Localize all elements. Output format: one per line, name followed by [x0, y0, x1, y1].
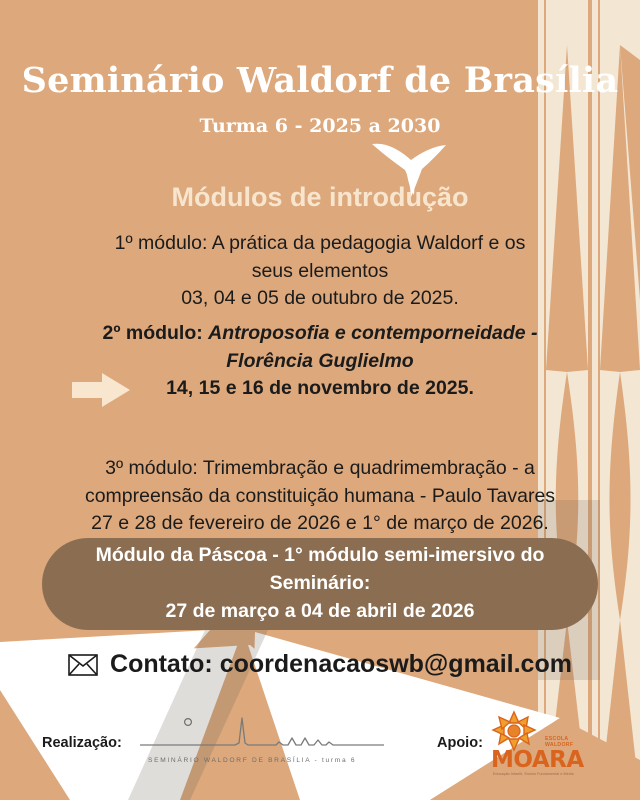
module-1-line-2: seus elementos: [20, 258, 620, 286]
contact-row: Contato: coordenacaoswb@gmail.com: [0, 650, 640, 679]
module-2-title-line-2: Florência Guglielmo: [20, 348, 620, 376]
pill-text: Módulo da Páscoa - 1° módulo semi-imersi…: [96, 542, 545, 625]
section-heading: Módulos de introdução: [0, 182, 640, 213]
contact-text[interactable]: Contato: coordenacaoswb@gmail.com: [110, 650, 572, 679]
moara-tagline-bottom: Educação Infantil, Ensino Fundamental e …: [493, 772, 574, 776]
module-3-line-2: compreensão da constituição humana - Pau…: [20, 483, 620, 511]
envelope-icon: [68, 654, 98, 676]
poster-subtitle: Turma 6 - 2025 a 2030: [0, 115, 640, 137]
poster-canvas: Seminário Waldorf de Brasília Turma 6 - …: [0, 0, 640, 800]
moara-wordmark: MOARA: [491, 749, 584, 772]
arrow-right-icon: [72, 373, 130, 407]
swb-logo: SEMINÁRIO WALDORF DE BRASÍLIA - turma 6: [138, 712, 400, 774]
swb-logo-caption: SEMINÁRIO WALDORF DE BRASÍLIA - turma 6: [148, 757, 400, 764]
module-1-block: 1º módulo: A prática da pedagogia Waldor…: [20, 230, 620, 313]
module-2-title-line-1: Antroposofia e contemporneidade -: [208, 322, 537, 344]
module-2-heading: 2º módulo: Antroposofia e contemporneida…: [20, 320, 620, 348]
module-3-line-3: 27 e 28 de fevereiro de 2026 e 1° de mar…: [20, 510, 620, 538]
module-2-label: 2º módulo:: [102, 322, 208, 344]
module-1-line-1: 1º módulo: A prática da pedagogia Waldor…: [20, 230, 620, 258]
pill-line-1: Módulo da Páscoa - 1° módulo semi-imersi…: [96, 542, 545, 570]
module-1-line-3: 03, 04 e 05 de outubro de 2025.: [20, 285, 620, 313]
pill-line-2: Seminário:: [96, 570, 545, 598]
apoio-label: Apoio:: [437, 735, 483, 751]
module-3-block: 3º módulo: Trimembração e quadrimembraçã…: [20, 455, 620, 538]
pill-line-3: 27 de março a 04 de abril de 2026: [96, 598, 545, 626]
pascoa-module-pill: Módulo da Páscoa - 1° módulo semi-imersi…: [42, 538, 598, 630]
swb-logo-mark: [138, 712, 400, 758]
moara-logo: ESCOLA WALDORF MOARA Educação Infantil, …: [490, 709, 588, 783]
module-3-line-1: 3º módulo: Trimembração e quadrimembraçã…: [20, 455, 620, 483]
realizacao-label: Realização:: [42, 735, 122, 751]
poster-title: Seminário Waldorf de Brasília: [0, 62, 640, 101]
